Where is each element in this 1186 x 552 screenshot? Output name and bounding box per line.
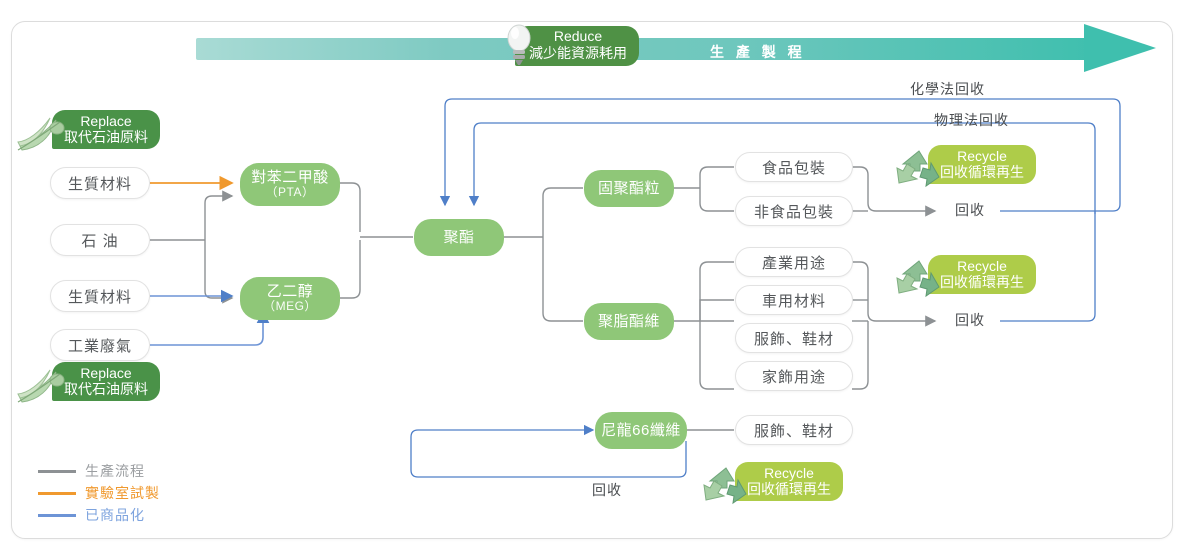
polymer-nylon66-fiber[interactable]: 尼龍66纖維 bbox=[595, 412, 687, 449]
leaf-icon bbox=[16, 364, 76, 408]
legend-label: 實驗室試製 bbox=[85, 483, 160, 503]
legend-swatch-line bbox=[38, 470, 76, 473]
leaf-icon bbox=[16, 112, 76, 156]
monomer-abbr: （MEG） bbox=[263, 300, 317, 314]
application-automotive[interactable]: 車用材料 bbox=[735, 285, 853, 315]
application-label: 產業用途 bbox=[762, 252, 826, 273]
application-label: 家飾用途 bbox=[762, 366, 826, 387]
recycle-1-cn: 回收循環再生 bbox=[940, 164, 1024, 180]
application-label: 車用材料 bbox=[762, 290, 826, 311]
reduce-en: Reduce bbox=[554, 28, 602, 44]
label-collect-1: 回收 bbox=[955, 200, 985, 220]
monomer-pta[interactable]: 對苯二甲酸 （PTA） bbox=[240, 163, 340, 206]
intermediate-polyester-fiber[interactable]: 聚脂酯維 bbox=[584, 303, 674, 340]
intermediate-label: 固聚酯粒 bbox=[598, 180, 660, 197]
monomer-name: 乙二醇 bbox=[267, 283, 314, 300]
banner-arrowhead bbox=[1084, 24, 1156, 72]
badge-reduce: Reduce 減少能資源耗用 bbox=[515, 26, 639, 66]
application-nylon-apparel-footwear[interactable]: 服飾、鞋材 bbox=[735, 415, 853, 445]
recycle-2-cn: 回收循環再生 bbox=[940, 274, 1024, 290]
banner-process-label: 生 產 製 程 bbox=[710, 42, 806, 62]
application-label: 服飾、鞋材 bbox=[754, 328, 834, 349]
recycle-icon bbox=[700, 464, 754, 508]
recycle-icon bbox=[893, 147, 947, 191]
polymer-label: 聚酯 bbox=[443, 229, 474, 246]
legend-label: 生產流程 bbox=[85, 461, 145, 481]
application-label: 非食品包裝 bbox=[754, 201, 834, 222]
input-pill-biomass-1[interactable]: 生質材料 bbox=[50, 167, 150, 199]
polymer-polyester[interactable]: 聚酯 bbox=[414, 219, 504, 256]
replace-top-cn: 取代石油原料 bbox=[64, 129, 148, 145]
input-label: 生質材料 bbox=[68, 173, 132, 194]
recycle-3-cn: 回收循環再生 bbox=[747, 481, 831, 497]
application-nonfood-packaging[interactable]: 非食品包裝 bbox=[735, 196, 853, 226]
application-apparel-footwear[interactable]: 服飾、鞋材 bbox=[735, 323, 853, 353]
lightbulb-icon bbox=[504, 23, 534, 67]
legend-swatch-line bbox=[38, 492, 76, 495]
diagram-canvas: 生 產 製 程 Reduce 減少能資源耗用 Replace 取代石油原料 bbox=[0, 0, 1186, 552]
monomer-abbr: （PTA） bbox=[266, 186, 315, 200]
application-label: 服飾、鞋材 bbox=[754, 420, 834, 441]
badge-replace-top: Replace 取代石油原料 bbox=[22, 110, 160, 149]
legend-swatch-line bbox=[38, 514, 76, 517]
monomer-name: 對苯二甲酸 bbox=[251, 169, 329, 186]
application-food-packaging[interactable]: 食品包裝 bbox=[735, 152, 853, 182]
intermediate-solid-chip[interactable]: 固聚酯粒 bbox=[584, 170, 674, 207]
monomer-meg[interactable]: 乙二醇 （MEG） bbox=[240, 277, 340, 320]
label-collect-2: 回收 bbox=[955, 310, 985, 330]
legend-item-commercial: 已商品化 bbox=[38, 504, 160, 526]
badge-replace-bottom: Replace 取代石油原料 bbox=[22, 362, 160, 401]
nylon-label: 尼龍66纖維 bbox=[601, 422, 681, 439]
recycle-2-en: Recycle bbox=[957, 258, 1007, 274]
badge-recycle-3: Recycle 回收循環再生 bbox=[700, 462, 843, 501]
reduce-cn: 減少能資源耗用 bbox=[529, 45, 627, 62]
application-label: 食品包裝 bbox=[762, 157, 826, 178]
label-physical-recovery: 物理法回收 bbox=[934, 110, 1009, 130]
input-label: 石 油 bbox=[81, 230, 118, 251]
application-home-furnishing[interactable]: 家飾用途 bbox=[735, 361, 853, 391]
recycle-icon bbox=[893, 257, 947, 301]
badge-recycle-2: Recycle 回收循環再生 bbox=[893, 255, 1036, 294]
legend: 生產流程 實驗室試製 已商品化 bbox=[38, 460, 160, 526]
input-label: 工業廢氣 bbox=[68, 335, 132, 356]
input-label: 生質材料 bbox=[68, 286, 132, 307]
legend-item-lab: 實驗室試製 bbox=[38, 482, 160, 504]
legend-label: 已商品化 bbox=[85, 505, 145, 525]
replace-top-en: Replace bbox=[80, 113, 131, 129]
input-pill-waste-gas[interactable]: 工業廢氣 bbox=[50, 329, 150, 361]
intermediate-label: 聚脂酯維 bbox=[598, 313, 660, 330]
application-industrial[interactable]: 產業用途 bbox=[735, 247, 853, 277]
replace-bottom-cn: 取代石油原料 bbox=[64, 381, 148, 397]
input-pill-biomass-2[interactable]: 生質材料 bbox=[50, 280, 150, 312]
replace-bottom-en: Replace bbox=[80, 365, 131, 381]
badge-recycle-1: Recycle 回收循環再生 bbox=[893, 145, 1036, 184]
label-collect-3: 回收 bbox=[592, 480, 622, 500]
recycle-1-en: Recycle bbox=[957, 148, 1007, 164]
label-chemical-recovery: 化學法回收 bbox=[910, 79, 985, 99]
input-pill-petroleum[interactable]: 石 油 bbox=[50, 224, 150, 256]
recycle-3-en: Recycle bbox=[764, 465, 814, 481]
legend-item-production: 生產流程 bbox=[38, 460, 160, 482]
process-banner: 生 產 製 程 bbox=[196, 34, 1156, 64]
banner-bar bbox=[196, 38, 1096, 60]
